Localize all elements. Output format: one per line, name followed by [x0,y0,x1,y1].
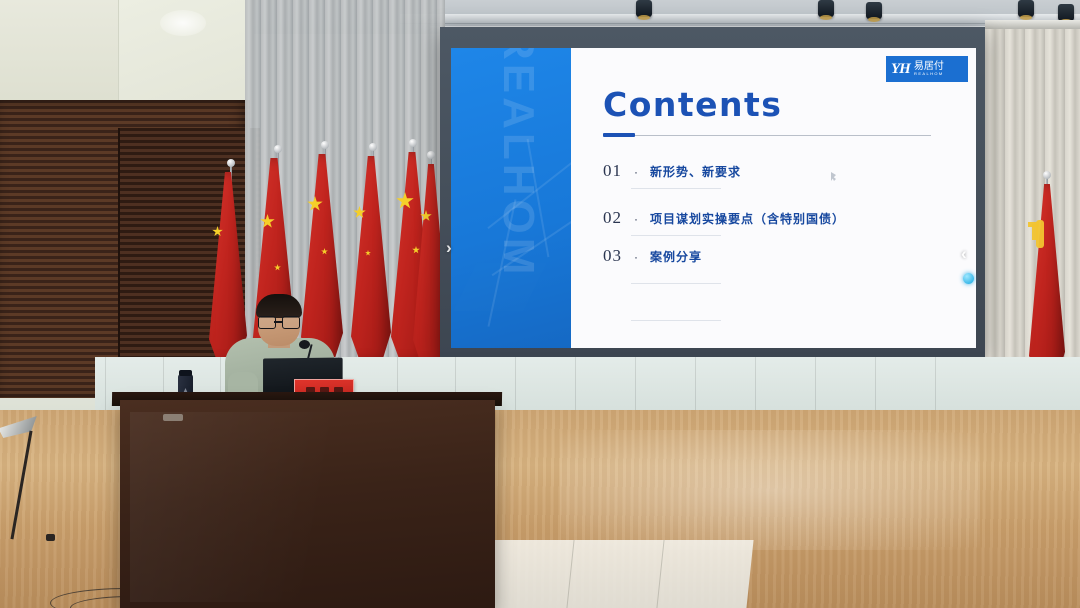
wainscot-seam [695,357,696,412]
next-slide-arrow-icon[interactable]: ‹ [961,244,967,264]
toc-underline [631,283,721,284]
podium-badge [163,414,183,421]
eyeglasses [258,316,300,327]
toc-separator: · [634,165,638,179]
screen-roller-housing [400,14,1080,24]
slide-divider-accent [603,133,635,137]
toc-label: 项目谋划实操要点（含特别国债） [650,210,845,227]
brand-logo: YH 易居付 REALHOM [886,56,968,82]
microphone-icon [299,340,310,349]
toc-number: 02 [603,208,622,228]
flag-finial-icon [227,159,235,167]
toc-underline [631,235,721,236]
flag-finial-icon [1043,171,1051,179]
toc-label: 案例分享 [650,248,702,265]
toc-number: 01 [603,161,622,181]
slide-heading: Contents [603,85,782,124]
wainscot-seam [815,357,816,412]
tripod-leg [46,534,55,541]
glasses-lens [258,316,276,329]
hammer-sickle-icon [1028,222,1039,227]
toc-item-3: 03 · 案例分享 [603,246,702,266]
slide-decor-shape [453,263,546,311]
projection-screen[interactable]: REALHOM YH 易居付 REALHOM Contents 01 · [451,48,976,348]
status-dot-indicator[interactable] [963,273,974,284]
flag-finial-icon [369,143,377,151]
floor-light-reflection [560,430,980,550]
wainscot-seam [935,357,936,412]
wainscot-seam [755,357,756,412]
wainscot-seam [515,357,516,412]
photo-scene: REALHOM YH 易居付 REALHOM Contents 01 · [0,0,1080,608]
ceiling-spotlight [866,2,882,19]
ceiling-spotlight [818,0,834,17]
brand-logo-mark: YH [891,61,910,78]
flag-finial-icon [321,141,329,149]
wainscot-seam [105,357,106,412]
ceiling-spotlight [636,0,652,17]
slide-blue-panel: REALHOM [451,48,571,348]
toc-label: 新形势、新要求 [650,163,741,180]
presenter-hair [256,294,302,318]
ceiling-spotlight [1018,0,1034,17]
wainscot-seam [875,357,876,412]
glasses-lens [282,316,300,329]
ceiling-spotlight [1058,4,1074,21]
presentation-slide: REALHOM YH 易居付 REALHOM Contents 01 · [451,48,976,348]
prev-slide-arrow-icon[interactable]: › [446,238,452,258]
flag-cloth [351,156,391,361]
slide-divider [603,135,931,136]
flag-cloth [209,172,247,362]
glasses-bridge [274,321,282,323]
toc-item-1: 01 · 新形势、新要求 [603,161,741,181]
podium-sheen [130,412,480,602]
toc-separator: · [634,250,638,264]
brand-name-en: REALHOM [914,72,944,76]
wall-glare [160,10,206,36]
water-bottle-cap [179,370,192,376]
toc-underline [631,320,721,321]
toc-underline [631,188,721,189]
toc-separator: · [634,212,638,226]
flag-finial-icon [427,151,435,159]
toc-number: 03 [603,246,622,266]
flag-finial-icon [409,139,417,147]
wainscot-seam [575,357,576,412]
chinese-flag [353,150,393,386]
flag-cloth [301,154,343,362]
flag-finial-icon [274,145,282,153]
tile-seam [656,540,664,608]
tile-seam [566,540,574,608]
mouse-cursor-icon [831,172,836,181]
curtain-rail-right [985,20,1080,29]
toc-item-2: 02 · 项目谋划实操要点（含特别国债） [603,208,845,228]
wainscot-seam [635,357,636,412]
flag-cloth [1029,184,1065,379]
